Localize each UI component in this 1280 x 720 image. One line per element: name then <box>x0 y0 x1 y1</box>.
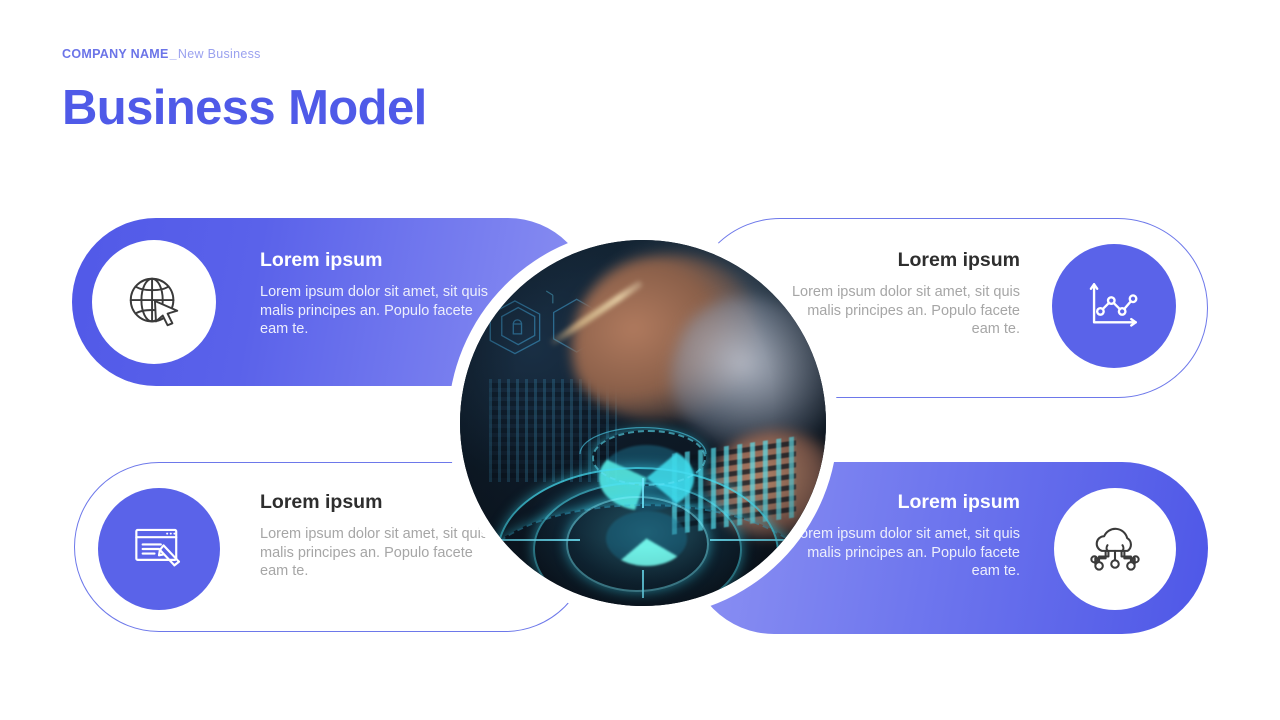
card-top-left-icon-badge[interactable] <box>92 240 216 364</box>
slide-header: COMPANY NAME_New Business Business Model <box>62 48 762 134</box>
cloud-network-icon <box>1085 519 1145 579</box>
browser-pencil-icon <box>130 520 188 578</box>
page-title: Business Model <box>62 83 762 134</box>
card-bottom-right-icon-badge[interactable] <box>1054 488 1176 610</box>
breadcrumb-separator: _ <box>169 47 178 61</box>
center-image <box>460 240 826 606</box>
breadcrumb: COMPANY NAME_New Business <box>62 48 762 61</box>
line-chart-icon <box>1085 277 1143 335</box>
breadcrumb-subtitle: New Business <box>178 47 261 61</box>
card-top-right-icon-badge[interactable] <box>1052 244 1176 368</box>
globe-cursor-icon <box>123 271 185 333</box>
slide-canvas: COMPANY NAME_New Business Business Model… <box>0 0 1280 720</box>
photo-vignette <box>460 240 826 606</box>
company-name: COMPANY NAME <box>62 47 169 61</box>
card-bottom-left-icon-badge[interactable] <box>98 488 220 610</box>
